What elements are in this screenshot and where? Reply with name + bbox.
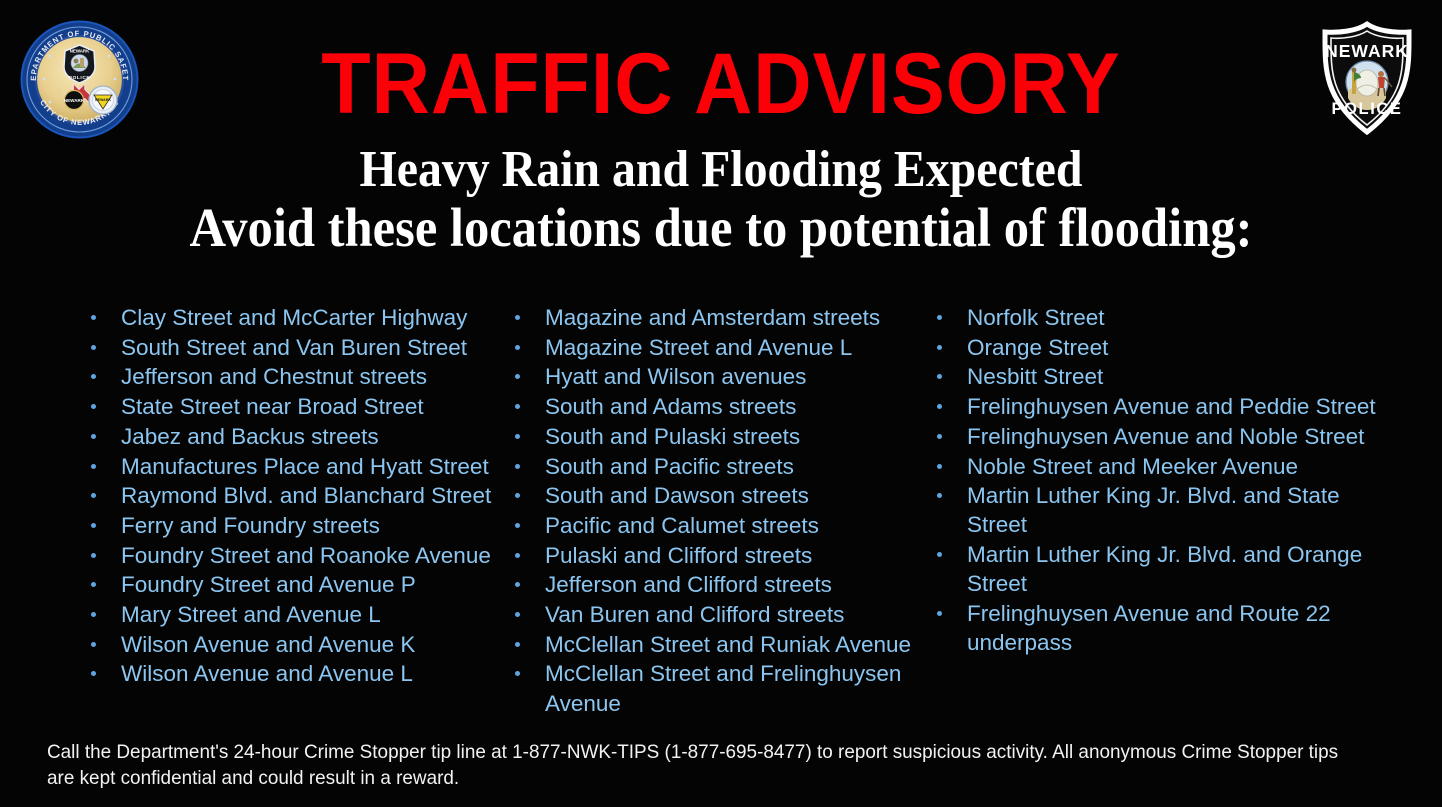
location-list-item: Hyatt and Wilson avenues (510, 362, 925, 391)
location-label: South Street and Van Buren Street (121, 333, 496, 362)
bullet-icon (515, 553, 520, 558)
location-label: Manufactures Place and Hyatt Street (121, 452, 496, 481)
bullet-icon (515, 464, 520, 469)
location-label: Wilson Avenue and Avenue K (121, 630, 496, 659)
bullet-icon (937, 315, 942, 320)
location-list-item: Manufactures Place and Hyatt Street (86, 452, 496, 481)
bullet-icon (937, 404, 942, 409)
bullet-icon (937, 345, 942, 350)
bullet-icon (91, 523, 96, 528)
location-column-3: Norfolk StreetOrange StreetNesbitt Stree… (932, 303, 1382, 658)
location-label: Frelinghuysen Avenue and Noble Street (967, 422, 1382, 451)
location-label: Norfolk Street (967, 303, 1382, 332)
location-label: Magazine and Amsterdam streets (545, 303, 925, 332)
location-label: South and Pacific streets (545, 452, 925, 481)
location-label: Pulaski and Clifford streets (545, 541, 925, 570)
location-list-item: Ferry and Foundry streets (86, 511, 496, 540)
location-label: Foundry Street and Roanoke Avenue (121, 541, 496, 570)
location-label: State Street near Broad Street (121, 392, 496, 421)
location-columns: Clay Street and McCarter HighwaySouth St… (0, 303, 1442, 723)
location-list-item: Foundry Street and Avenue P (86, 570, 496, 599)
bullet-icon (515, 671, 520, 676)
location-label: South and Adams streets (545, 392, 925, 421)
bullet-icon (937, 552, 942, 557)
location-list-3: Norfolk StreetOrange StreetNesbitt Stree… (932, 303, 1382, 657)
location-label: Noble Street and Meeker Avenue (967, 452, 1382, 481)
location-list-item: State Street near Broad Street (86, 392, 496, 421)
location-list-item: McClellan Street and Frelinghuysen Avenu… (510, 659, 925, 717)
location-label: Jefferson and Chestnut streets (121, 362, 496, 391)
location-list-item: Martin Luther King Jr. Blvd. and State S… (932, 481, 1382, 539)
location-label: Raymond Blvd. and Blanchard Street (121, 481, 496, 510)
location-label: Orange Street (967, 333, 1382, 362)
bullet-icon (91, 642, 96, 647)
bullet-icon (91, 671, 96, 676)
location-list-item: Frelinghuysen Avenue and Route 22 underp… (932, 599, 1382, 657)
location-list-item: Jabez and Backus streets (86, 422, 496, 451)
location-label: Martin Luther King Jr. Blvd. and State S… (967, 481, 1382, 539)
location-label: Foundry Street and Avenue P (121, 570, 496, 599)
location-label: McClellan Street and Runiak Avenue (545, 630, 925, 659)
location-list-item: Mary Street and Avenue L (86, 600, 496, 629)
location-list-item: Magazine Street and Avenue L (510, 333, 925, 362)
bullet-icon (937, 493, 942, 498)
location-label: South and Pulaski streets (545, 422, 925, 451)
location-list-1: Clay Street and McCarter HighwaySouth St… (86, 303, 496, 689)
location-label: Frelinghuysen Avenue and Peddie Street (967, 392, 1382, 421)
location-list-item: Raymond Blvd. and Blanchard Street (86, 481, 496, 510)
subtitle-line-1: Heavy Rain and Flooding Expected (58, 141, 1385, 199)
bullet-icon (91, 404, 96, 409)
location-label: Jefferson and Clifford streets (545, 570, 925, 599)
location-list-item: Pacific and Calumet streets (510, 511, 925, 540)
location-list-item: Van Buren and Clifford streets (510, 600, 925, 629)
bullet-icon (91, 553, 96, 558)
page-title: TRAFFIC ADVISORY (43, 36, 1398, 132)
bullet-icon (937, 611, 942, 616)
location-list-item: South and Dawson streets (510, 481, 925, 510)
location-list-item: Wilson Avenue and Avenue K (86, 630, 496, 659)
location-column-2: Magazine and Amsterdam streetsMagazine S… (510, 303, 925, 718)
location-list-item: Pulaski and Clifford streets (510, 541, 925, 570)
location-list-item: Clay Street and McCarter Highway (86, 303, 496, 332)
bullet-icon (515, 523, 520, 528)
location-list-item: Noble Street and Meeker Avenue (932, 452, 1382, 481)
location-list-item: South and Pacific streets (510, 452, 925, 481)
location-list-item: South and Adams streets (510, 392, 925, 421)
subtitle-line-2: Avoid these locations due to potential o… (58, 199, 1385, 257)
location-list-item: McClellan Street and Runiak Avenue (510, 630, 925, 659)
bullet-icon (91, 493, 96, 498)
location-list-item: Martin Luther King Jr. Blvd. and Orange … (932, 540, 1382, 598)
bullet-icon (515, 582, 520, 587)
location-label: Frelinghuysen Avenue and Route 22 underp… (967, 599, 1382, 657)
location-label: Jabez and Backus streets (121, 422, 496, 451)
location-label: South and Dawson streets (545, 481, 925, 510)
location-label: Mary Street and Avenue L (121, 600, 496, 629)
bullet-icon (515, 315, 520, 320)
bullet-icon (91, 374, 96, 379)
location-list-item: Wilson Avenue and Avenue L (86, 659, 496, 688)
bullet-icon (515, 612, 520, 617)
location-list-item: Magazine and Amsterdam streets (510, 303, 925, 332)
location-list-item: Jefferson and Clifford streets (510, 570, 925, 599)
location-label: Pacific and Calumet streets (545, 511, 925, 540)
bullet-icon (91, 315, 96, 320)
location-label: Clay Street and McCarter Highway (121, 303, 496, 332)
bullet-icon (515, 434, 520, 439)
location-list-2: Magazine and Amsterdam streetsMagazine S… (510, 303, 925, 718)
bullet-icon (937, 434, 942, 439)
crime-stopper-footer: Call the Department's 24-hour Crime Stop… (47, 740, 1352, 791)
bullet-icon (937, 464, 942, 469)
location-label: Magazine Street and Avenue L (545, 333, 925, 362)
location-label: Ferry and Foundry streets (121, 511, 496, 540)
location-list-item: South and Pulaski streets (510, 422, 925, 451)
subtitle-block: Heavy Rain and Flooding Expected Avoid t… (0, 141, 1442, 257)
location-list-item: Frelinghuysen Avenue and Peddie Street (932, 392, 1382, 421)
location-list-item: Jefferson and Chestnut streets (86, 362, 496, 391)
bullet-icon (515, 374, 520, 379)
location-label: Martin Luther King Jr. Blvd. and Orange … (967, 540, 1382, 598)
location-list-item: Frelinghuysen Avenue and Noble Street (932, 422, 1382, 451)
bullet-icon (91, 582, 96, 587)
bullet-icon (91, 464, 96, 469)
bullet-icon (515, 642, 520, 647)
bullet-icon (515, 493, 520, 498)
location-label: Nesbitt Street (967, 362, 1382, 391)
bullet-icon (515, 345, 520, 350)
location-list-item: Orange Street (932, 333, 1382, 362)
bullet-icon (91, 345, 96, 350)
location-label: McClellan Street and Frelinghuysen Avenu… (545, 659, 925, 717)
bullet-icon (937, 374, 942, 379)
location-column-1: Clay Street and McCarter HighwaySouth St… (86, 303, 496, 689)
location-list-item: Foundry Street and Roanoke Avenue (86, 541, 496, 570)
bullet-icon (515, 404, 520, 409)
location-label: Wilson Avenue and Avenue L (121, 659, 496, 688)
location-list-item: Norfolk Street (932, 303, 1382, 332)
bullet-icon (91, 612, 96, 617)
bullet-icon (91, 434, 96, 439)
location-list-item: Nesbitt Street (932, 362, 1382, 391)
location-label: Van Buren and Clifford streets (545, 600, 925, 629)
location-label: Hyatt and Wilson avenues (545, 362, 925, 391)
location-list-item: South Street and Van Buren Street (86, 333, 496, 362)
traffic-advisory-slide: DEPARTMENT OF PUBLIC SAFETY CITY OF NEWA… (0, 0, 1442, 807)
